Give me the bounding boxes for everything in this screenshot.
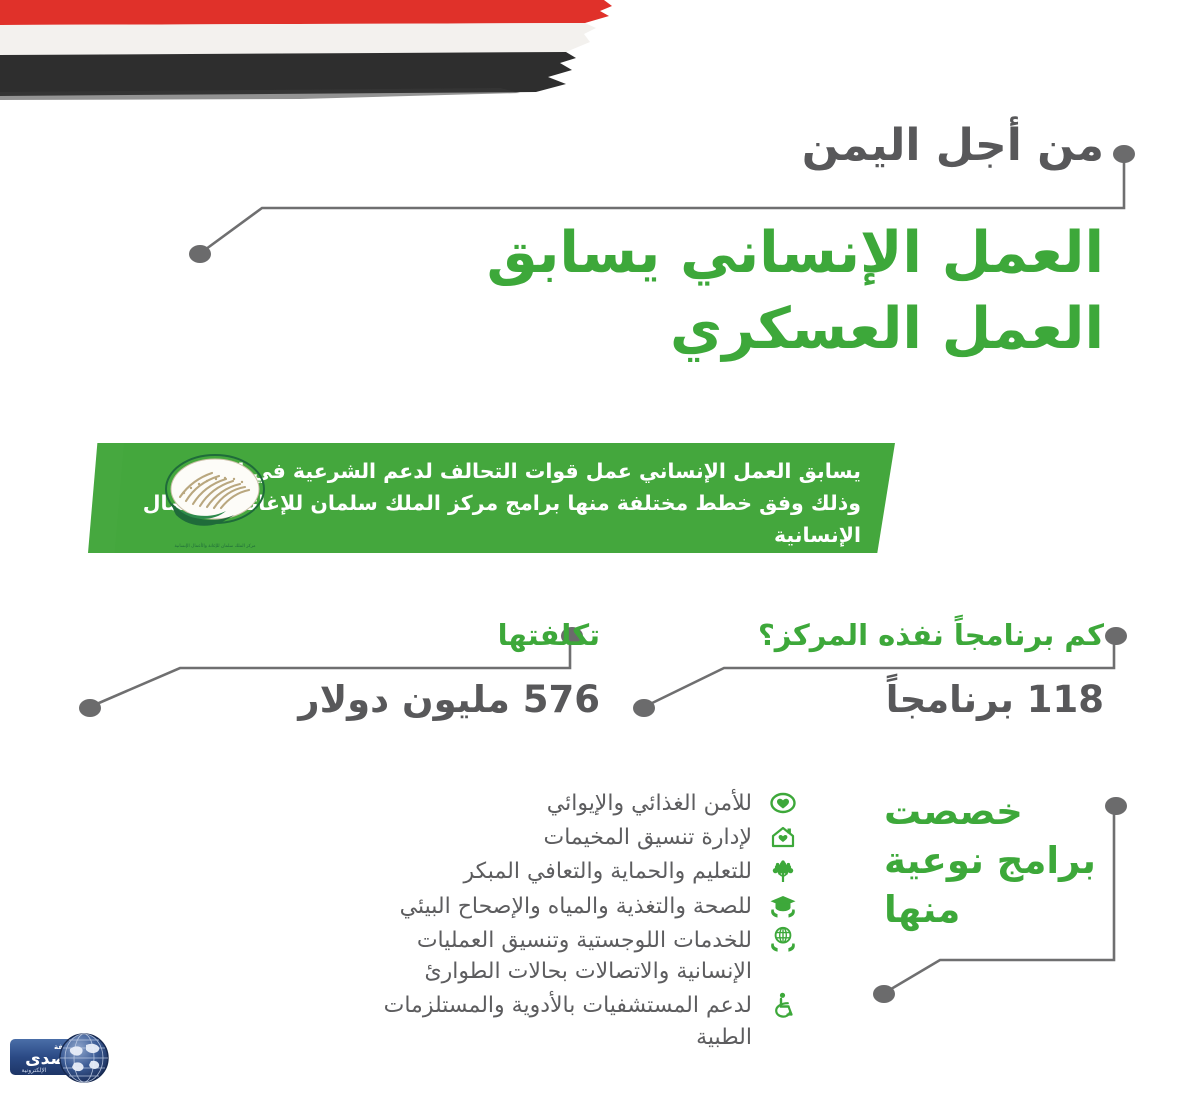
list-item-label: للتعليم والحماية والتعافي المبكر — [380, 856, 752, 887]
sada-newspaper-watermark: صحيفة صدى الإلكترونية — [8, 1025, 128, 1091]
list-item: لإدارة تنسيق المخيمات — [380, 822, 800, 853]
globe-hands-icon — [766, 925, 800, 955]
stat-cost: تكلفتها 576 مليون دولار — [298, 620, 600, 721]
yemen-flag-brushstroke — [0, 0, 640, 115]
stat-programs: كم برنامجاً نفذه المركز؟ 118 برنامجاً — [758, 620, 1104, 721]
headline-line-1: العمل الإنساني يسابق — [94, 215, 1104, 291]
list-item: لدعم المستشفيات بالأدوية والمستلزمات الط… — [380, 990, 800, 1052]
headline-line-2: العمل العسكري — [94, 291, 1104, 367]
wheelchair-icon — [766, 990, 800, 1020]
list-item-label: للخدمات اللوجستية وتنسيق العمليات الإنسا… — [380, 925, 752, 987]
list-item: للخدمات اللوجستية وتنسيق العمليات الإنسا… — [380, 925, 800, 987]
list-item: للصحة والتغذية والمياه والإصحاح البيئي — [380, 891, 800, 922]
allocation-title: خصصت برامج نوعية منها — [884, 788, 1104, 934]
logo-caption: مركز الملك سلمان للإغاثة والأعمال الإنسا… — [150, 544, 280, 551]
tree-icon — [766, 856, 800, 886]
list-item-label: للصحة والتغذية والمياه والإصحاح البيئي — [380, 891, 752, 922]
kicker-text: من أجل اليمن — [802, 122, 1104, 170]
list-item-label: لدعم المستشفيات بالأدوية والمستلزمات الط… — [380, 990, 752, 1052]
list-item-label: للأمن الغذائي والإيوائي — [380, 788, 752, 819]
list-item: للأمن الغذائي والإيوائي — [380, 788, 800, 819]
stat-programs-value: 118 برنامجاً — [758, 680, 1104, 721]
infographic-page: من أجل اليمن العمل الإنساني يسابق العمل … — [0, 0, 1200, 1097]
ksrelief-logo: مركز الملك سلمان للإغاثة والأعمال الإنسا… — [150, 445, 280, 555]
stat-programs-label: كم برنامجاً نفذه المركز؟ — [758, 620, 1104, 652]
house-heart-icon — [766, 822, 800, 852]
allocation-list: للأمن الغذائي والإيوائي لإدارة تنسيق الم… — [380, 788, 800, 1056]
allocation-title-line-1: خصصت — [884, 788, 1104, 837]
list-item: للتعليم والحماية والتعافي المبكر — [380, 856, 800, 887]
graduation-cap-hands-icon — [766, 891, 800, 921]
stat-cost-label: تكلفتها — [298, 620, 600, 652]
page-headline: العمل الإنساني يسابق العمل العسكري — [94, 215, 1104, 368]
watermark-line-bottom: الإلكترونية — [22, 1067, 47, 1074]
list-item-label: لإدارة تنسيق المخيمات — [380, 822, 752, 853]
allocation-title-line-2: برامج نوعية — [884, 837, 1104, 886]
allocation-title-line-3: منها — [884, 886, 1104, 935]
heart-ring-icon — [766, 788, 800, 818]
stat-cost-value: 576 مليون دولار — [298, 680, 600, 721]
